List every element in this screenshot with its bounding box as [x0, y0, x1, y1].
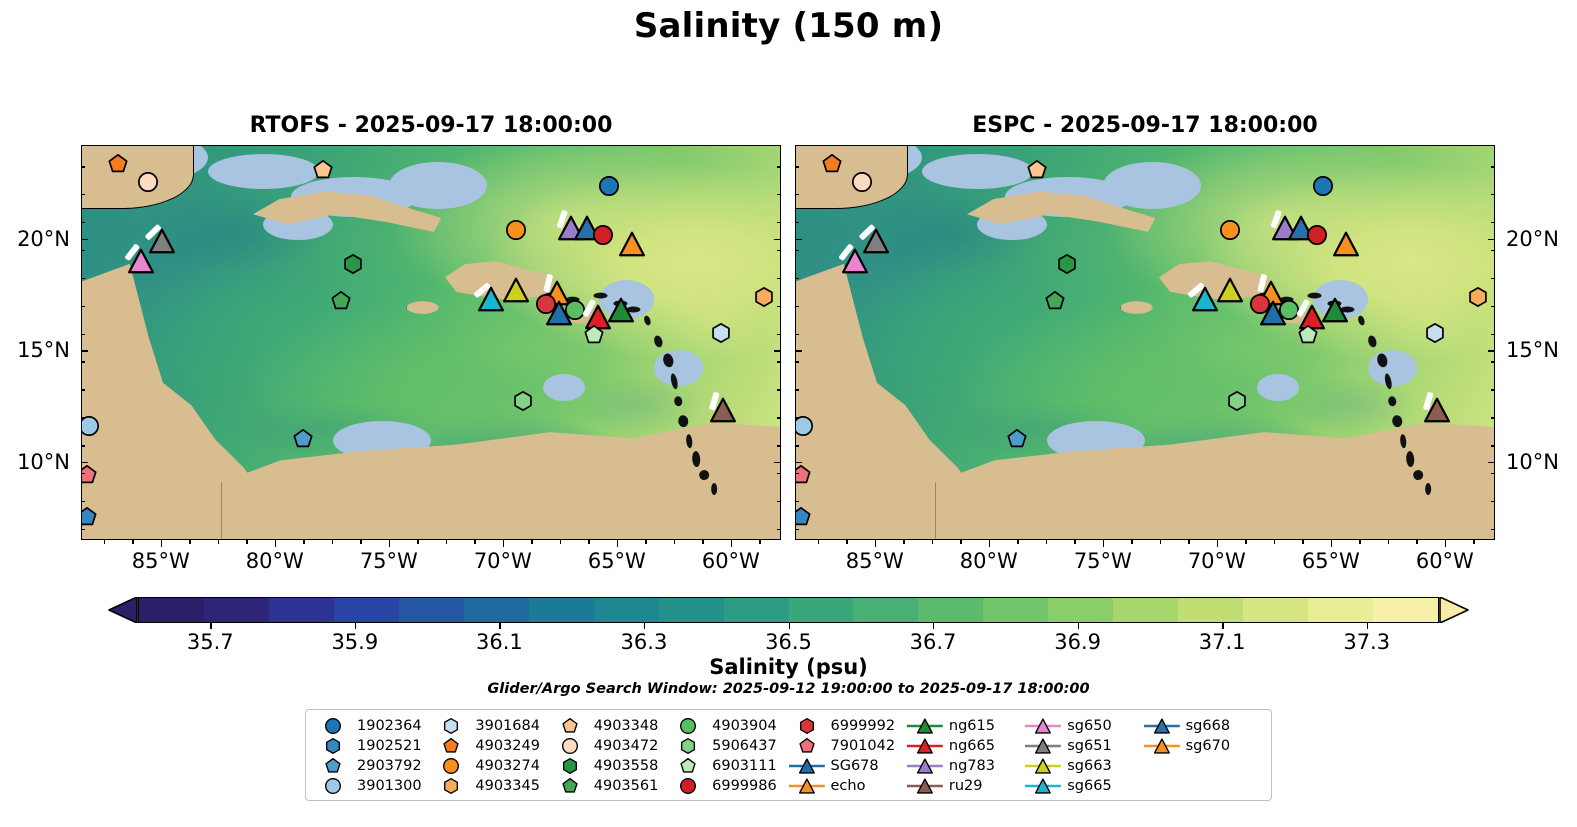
y-tick-label-left: 20°N	[17, 227, 70, 251]
legend-label: echo	[831, 778, 866, 794]
continental-shelf	[1103, 162, 1201, 209]
y-tick-minor	[81, 473, 85, 474]
legend-item-ng665[interactable]: ng665	[908, 736, 1026, 756]
colorbar: 35.735.936.136.336.536.736.937.137.3	[110, 597, 1467, 623]
legend-marker-pentagon-icon	[316, 758, 350, 774]
legend-item-1902521[interactable]: 1902521	[316, 736, 434, 756]
legend-marker-circle-icon	[316, 778, 350, 794]
legend-marker-hexagon-icon	[790, 718, 824, 734]
legend-marker-pentagon-icon	[790, 738, 824, 754]
y-tick-label-left: 10°N	[17, 450, 70, 474]
y-tick-minor	[1491, 417, 1495, 418]
legend-marker-triangle-icon	[1145, 718, 1179, 734]
map-canvas-rtofs[interactable]	[81, 145, 781, 540]
x-tick	[1217, 540, 1218, 547]
colorbar-segment	[724, 598, 789, 622]
colorbar-tick-label: 37.3	[1343, 630, 1390, 654]
y-tick-minor	[777, 166, 781, 167]
colorbar-segment	[139, 598, 204, 622]
x-tick-label: 70°W	[474, 549, 532, 573]
y-tick	[795, 350, 802, 351]
x-tick-label: 85°W	[846, 549, 904, 573]
colorbar-tick	[210, 623, 211, 629]
panel-title-rtofs: RTOFS - 2025-09-17 18:00:00	[81, 113, 781, 138]
platform-legend: 1902364190252129037923901300390168449032…	[305, 709, 1272, 801]
y-tick-minor	[81, 278, 85, 279]
y-tick	[81, 350, 88, 351]
continental-shelf	[543, 374, 585, 402]
colorbar-tick	[1222, 623, 1223, 629]
y-tick-minor	[81, 166, 85, 167]
x-tick-label: 80°W	[246, 549, 304, 573]
legend-marker-hexagon-icon	[553, 758, 587, 774]
colorbar-segment	[399, 598, 464, 622]
legend-marker-triangle-icon	[908, 718, 942, 734]
y-tick-minor	[1491, 166, 1495, 167]
map-panel-rtofs: RTOFS - 2025-09-17 18:00:00 85°W80°W75°W…	[81, 145, 781, 540]
x-tick	[875, 540, 876, 547]
y-tick-minor	[1491, 222, 1495, 223]
colorbar-segment	[464, 598, 529, 622]
legend-label: sg670	[1186, 738, 1230, 754]
legend-label: sg663	[1067, 758, 1111, 774]
y-tick-minor	[1491, 306, 1495, 307]
y-tick-minor	[795, 473, 799, 474]
legend-label: ng665	[949, 738, 995, 754]
legend-item-4903561[interactable]: 4903561	[553, 776, 671, 796]
continental-shelf	[1368, 350, 1417, 385]
legend-label: 7901042	[831, 738, 896, 754]
x-tick-minor	[1245, 540, 1246, 544]
x-tick-minor	[1302, 540, 1303, 544]
colorbar-gradient	[138, 597, 1439, 623]
y-tick-minor	[81, 445, 85, 446]
legend-marker-pentagon-icon	[434, 738, 468, 754]
legend-marker-triangle-icon	[1026, 758, 1060, 774]
legend-marker-triangle-icon	[908, 758, 942, 774]
legend-item-sg668[interactable]: sg668	[1145, 716, 1263, 736]
y-tick-minor	[81, 361, 85, 362]
legend-marker-circle-icon	[316, 718, 350, 734]
x-tick-minor	[846, 540, 847, 544]
legend-item-6999986[interactable]: 6999986	[671, 776, 789, 796]
y-tick-label-right: 15°N	[1506, 338, 1559, 362]
legend-item-2903792[interactable]: 2903792	[316, 756, 434, 776]
legend-item-sg650[interactable]: sg650	[1026, 716, 1144, 736]
legend-item-echo[interactable]: echo	[790, 776, 908, 796]
legend-marker-circle-icon	[671, 718, 705, 734]
legend-label: ng615	[949, 718, 995, 734]
colorbar-segment	[1373, 598, 1438, 622]
x-tick-label: 85°W	[132, 549, 190, 573]
y-tick-minor	[81, 389, 85, 390]
colorbar-extend-max-icon	[1439, 597, 1469, 623]
x-tick-minor	[446, 540, 447, 544]
colorbar-tick	[1367, 623, 1368, 629]
colorbar-segment	[789, 598, 854, 622]
legend-item-4903558[interactable]: 4903558	[553, 756, 671, 776]
x-tick-minor	[1388, 540, 1389, 544]
colorbar-tick-label: 36.7	[910, 630, 957, 654]
legend-label: 4903348	[594, 718, 659, 734]
colorbar-tick-label: 36.3	[621, 630, 668, 654]
y-tick-minor	[777, 222, 781, 223]
y-tick-minor	[777, 306, 781, 307]
legend-item-sg663[interactable]: sg663	[1026, 756, 1144, 776]
colorbar-segment	[1113, 598, 1178, 622]
legend-item-sg651[interactable]: sg651	[1026, 736, 1144, 756]
y-tick-label-right: 20°N	[1506, 227, 1559, 251]
x-tick-minor	[1131, 540, 1132, 544]
y-tick-minor	[1491, 445, 1495, 446]
legend-label: sg665	[1067, 778, 1111, 794]
legend-label: sg668	[1186, 718, 1230, 734]
legend-label: 4903274	[475, 758, 540, 774]
x-tick	[503, 540, 504, 547]
x-tick-minor	[674, 540, 675, 544]
continental-shelf	[654, 350, 703, 385]
legend-marker-triangle-icon	[908, 778, 942, 794]
y-tick	[774, 239, 781, 240]
colorbar-segment	[659, 598, 724, 622]
y-tick-minor	[1491, 501, 1495, 502]
legend-marker-triangle-icon	[1026, 778, 1060, 794]
legend-label: 4903561	[594, 778, 659, 794]
x-tick-minor	[903, 540, 904, 544]
x-tick-minor	[1017, 540, 1018, 544]
legend-item-7901042[interactable]: 7901042	[790, 736, 908, 756]
legend-marker-pentagon-icon	[553, 778, 587, 794]
map-field-espc	[796, 146, 1494, 539]
x-tick-minor	[702, 540, 703, 544]
x-tick-minor	[1074, 540, 1075, 544]
y-tick-minor	[1491, 194, 1495, 195]
legend-label: sg650	[1067, 718, 1111, 734]
x-tick-label: 65°W	[1302, 549, 1360, 573]
panel-title-espc: ESPC - 2025-09-17 18:00:00	[795, 113, 1495, 138]
legend-item-4903274[interactable]: 4903274	[434, 756, 552, 776]
y-tick-minor	[777, 334, 781, 335]
y-tick-minor	[795, 166, 799, 167]
legend-item-sg665[interactable]: sg665	[1026, 776, 1144, 796]
legend-marker-triangle-icon	[1145, 738, 1179, 754]
legend-marker-triangle-icon	[1026, 738, 1060, 754]
colorbar-label: Salinity (psu)	[0, 655, 1577, 679]
legend-marker-circle-icon	[553, 738, 587, 754]
x-tick	[731, 540, 732, 547]
legend-item-ng615[interactable]: ng615	[908, 716, 1026, 736]
y-tick-minor	[81, 529, 85, 530]
colorbar-tick	[644, 623, 645, 629]
legend-marker-circle-icon	[671, 778, 705, 794]
x-tick-minor	[588, 540, 589, 544]
legend-marker-hexagon-icon	[434, 778, 468, 794]
x-tick-minor	[932, 540, 933, 544]
x-tick-minor	[531, 540, 532, 544]
colorbar-tick-label: 35.7	[187, 630, 234, 654]
x-tick-minor	[132, 540, 133, 544]
colorbar-segment	[269, 598, 334, 622]
y-tick	[1488, 350, 1495, 351]
y-tick-minor	[795, 417, 799, 418]
x-tick-minor	[645, 540, 646, 544]
x-tick-minor	[332, 540, 333, 544]
legend-label: 4903472	[594, 738, 659, 754]
x-tick-minor	[1473, 540, 1474, 544]
colorbar-segment	[334, 598, 399, 622]
legend-marker-pentagon-icon	[671, 758, 705, 774]
x-tick-minor	[759, 540, 760, 544]
colorbar-tick-label: 36.9	[1054, 630, 1101, 654]
legend-item-3901300[interactable]: 3901300	[316, 776, 434, 796]
y-tick-minor	[1491, 361, 1495, 362]
y-tick-minor	[795, 250, 799, 251]
y-tick	[774, 462, 781, 463]
x-tick-minor	[218, 540, 219, 544]
salinity-comparison-figure: Salinity (150 m) RTOFS - 2025-09-17 18:0…	[0, 0, 1577, 827]
colorbar-tick	[1078, 623, 1079, 629]
y-tick-minor	[777, 361, 781, 362]
x-tick	[161, 540, 162, 547]
legend-marker-triangle-icon	[908, 738, 942, 754]
legend-item-ng783[interactable]: ng783	[908, 756, 1026, 776]
colorbar-tick	[355, 623, 356, 629]
legend-item-SG678[interactable]: SG678	[790, 756, 908, 776]
x-tick-label: 60°W	[1416, 549, 1474, 573]
legend-label: 1902521	[357, 738, 422, 754]
legend-label: ng783	[949, 758, 995, 774]
y-tick-label-right: 10°N	[1506, 450, 1559, 474]
y-tick-minor	[81, 250, 85, 251]
landmass	[407, 301, 439, 314]
y-tick	[81, 462, 88, 463]
x-tick-minor	[960, 540, 961, 544]
x-tick-label: 65°W	[588, 549, 646, 573]
y-tick	[795, 239, 802, 240]
legend-marker-circle-icon	[434, 758, 468, 774]
x-tick-label: 70°W	[1188, 549, 1246, 573]
y-tick-minor	[1491, 278, 1495, 279]
x-tick-minor	[246, 540, 247, 544]
x-tick	[1331, 540, 1332, 547]
y-tick	[774, 350, 781, 351]
legend-label: 4903904	[712, 718, 777, 734]
x-tick	[389, 540, 390, 547]
y-tick	[1488, 239, 1495, 240]
legend-item-1902364[interactable]: 1902364	[316, 716, 434, 736]
colorbar-segment	[1308, 598, 1373, 622]
y-tick-label-left: 15°N	[17, 338, 70, 362]
search-window-caption: Glider/Argo Search Window: 2025-09-12 19…	[0, 681, 1577, 697]
landmass	[1121, 301, 1153, 314]
x-tick-minor	[360, 540, 361, 544]
legend-marker-pentagon-icon	[553, 718, 587, 734]
x-tick-minor	[1416, 540, 1417, 544]
y-tick-minor	[795, 501, 799, 502]
legend-marker-hexagon-icon	[316, 738, 350, 754]
legend-marker-triangle-icon	[790, 778, 824, 794]
colorbar-tick	[499, 623, 500, 629]
map-panel-espc: ESPC - 2025-09-17 18:00:00 85°W80°W75°W7…	[795, 145, 1495, 540]
legend-item-4903249[interactable]: 4903249	[434, 736, 552, 756]
x-tick-label: 75°W	[1074, 549, 1132, 573]
x-tick	[275, 540, 276, 547]
y-tick-minor	[777, 473, 781, 474]
y-tick-minor	[81, 222, 85, 223]
y-tick-minor	[81, 194, 85, 195]
x-tick-minor	[560, 540, 561, 544]
y-tick-minor	[795, 445, 799, 446]
legend-item-ru29[interactable]: ru29	[908, 776, 1026, 796]
legend-label: 6999992	[831, 718, 896, 734]
y-tick-minor	[777, 278, 781, 279]
continental-shelf	[599, 280, 655, 319]
legend-marker-hexagon-icon	[671, 738, 705, 754]
x-tick-minor	[474, 540, 475, 544]
legend-item-4903345[interactable]: 4903345	[434, 776, 552, 796]
legend-marker-hexagon-icon	[434, 718, 468, 734]
y-tick-minor	[795, 389, 799, 390]
y-tick-minor	[777, 250, 781, 251]
legend-item-sg670[interactable]: sg670	[1145, 736, 1263, 756]
continental-shelf	[389, 162, 487, 209]
legend-label: 3901300	[357, 778, 422, 794]
legend-label: ru29	[949, 778, 983, 794]
y-tick-minor	[1491, 389, 1495, 390]
legend-item-4903348[interactable]: 4903348	[553, 716, 671, 736]
y-tick-minor	[795, 529, 799, 530]
x-tick	[617, 540, 618, 547]
continental-shelf	[1257, 374, 1299, 402]
legend-item-3901684[interactable]: 3901684	[434, 716, 552, 736]
y-tick-minor	[777, 445, 781, 446]
colorbar-segment	[918, 598, 983, 622]
legend-label: 2903792	[357, 758, 422, 774]
map-field-rtofs	[82, 146, 780, 539]
x-tick-label: 75°W	[360, 549, 418, 573]
colorbar-extend-min-icon	[108, 597, 138, 623]
colorbar-tick-label: 36.5	[765, 630, 812, 654]
legend-label: sg651	[1067, 738, 1111, 754]
colorbar-segment	[529, 598, 594, 622]
x-tick	[989, 540, 990, 547]
y-tick-minor	[777, 194, 781, 195]
y-tick-minor	[1491, 473, 1495, 474]
colorbar-segment	[204, 598, 269, 622]
y-tick-minor	[795, 194, 799, 195]
colorbar-tick-label: 36.1	[476, 630, 523, 654]
legend-label: SG678	[831, 758, 879, 774]
x-tick-minor	[104, 540, 105, 544]
legend-item-6903111[interactable]: 6903111	[671, 756, 789, 776]
x-tick-minor	[1188, 540, 1189, 544]
y-tick	[1488, 462, 1495, 463]
x-tick-minor	[1359, 540, 1360, 544]
x-tick-minor	[818, 540, 819, 544]
y-tick-minor	[795, 278, 799, 279]
figure-title: Salinity (150 m)	[0, 6, 1577, 46]
colorbar-segment	[853, 598, 918, 622]
colorbar-segment	[594, 598, 659, 622]
x-tick	[1445, 540, 1446, 547]
x-tick-label: 60°W	[702, 549, 760, 573]
y-tick-minor	[81, 334, 85, 335]
x-tick-minor	[1274, 540, 1275, 544]
y-tick-minor	[1491, 250, 1495, 251]
y-tick-minor	[795, 306, 799, 307]
legend-label: 5906437	[712, 738, 777, 754]
y-tick-minor	[795, 361, 799, 362]
legend-item-5906437[interactable]: 5906437	[671, 736, 789, 756]
y-tick-minor	[81, 417, 85, 418]
y-tick	[795, 462, 802, 463]
colorbar-segment	[1243, 598, 1308, 622]
legend-marker-triangle-icon	[1026, 718, 1060, 734]
y-tick-minor	[1491, 529, 1495, 530]
colorbar-segment	[983, 598, 1048, 622]
colorbar-segment	[1178, 598, 1243, 622]
y-tick-minor	[795, 222, 799, 223]
x-tick-minor	[303, 540, 304, 544]
x-tick-minor	[1160, 540, 1161, 544]
legend-label: 1902364	[357, 718, 422, 734]
colorbar-tick-label: 37.1	[1199, 630, 1246, 654]
legend-label: 4903558	[594, 758, 659, 774]
x-tick-minor	[417, 540, 418, 544]
legend-item-4903472[interactable]: 4903472	[553, 736, 671, 756]
y-tick-minor	[795, 334, 799, 335]
legend-label: 6903111	[712, 758, 777, 774]
y-tick-minor	[777, 501, 781, 502]
colorbar-tick	[933, 623, 934, 629]
legend-label: 6999986	[712, 778, 777, 794]
x-tick	[1103, 540, 1104, 547]
y-tick-minor	[777, 529, 781, 530]
x-tick-label: 80°W	[960, 549, 1018, 573]
legend-label: 4903249	[475, 738, 540, 754]
colorbar-tick-label: 35.9	[331, 630, 378, 654]
x-tick-minor	[1046, 540, 1047, 544]
legend-item-6999992[interactable]: 6999992	[790, 716, 908, 736]
y-tick-minor	[81, 306, 85, 307]
legend-marker-triangle-icon	[790, 758, 824, 774]
colorbar-segment	[1048, 598, 1113, 622]
y-tick-minor	[777, 417, 781, 418]
colorbar-tick	[789, 623, 790, 629]
legend-label: 4903345	[475, 778, 540, 794]
continental-shelf	[1313, 280, 1369, 319]
x-tick-minor	[189, 540, 190, 544]
y-tick-minor	[1491, 334, 1495, 335]
legend-label: 3901684	[475, 718, 540, 734]
y-tick	[81, 239, 88, 240]
y-tick-minor	[777, 389, 781, 390]
legend-item-4903904[interactable]: 4903904	[671, 716, 789, 736]
map-canvas-espc[interactable]	[795, 145, 1495, 540]
y-tick-minor	[81, 501, 85, 502]
